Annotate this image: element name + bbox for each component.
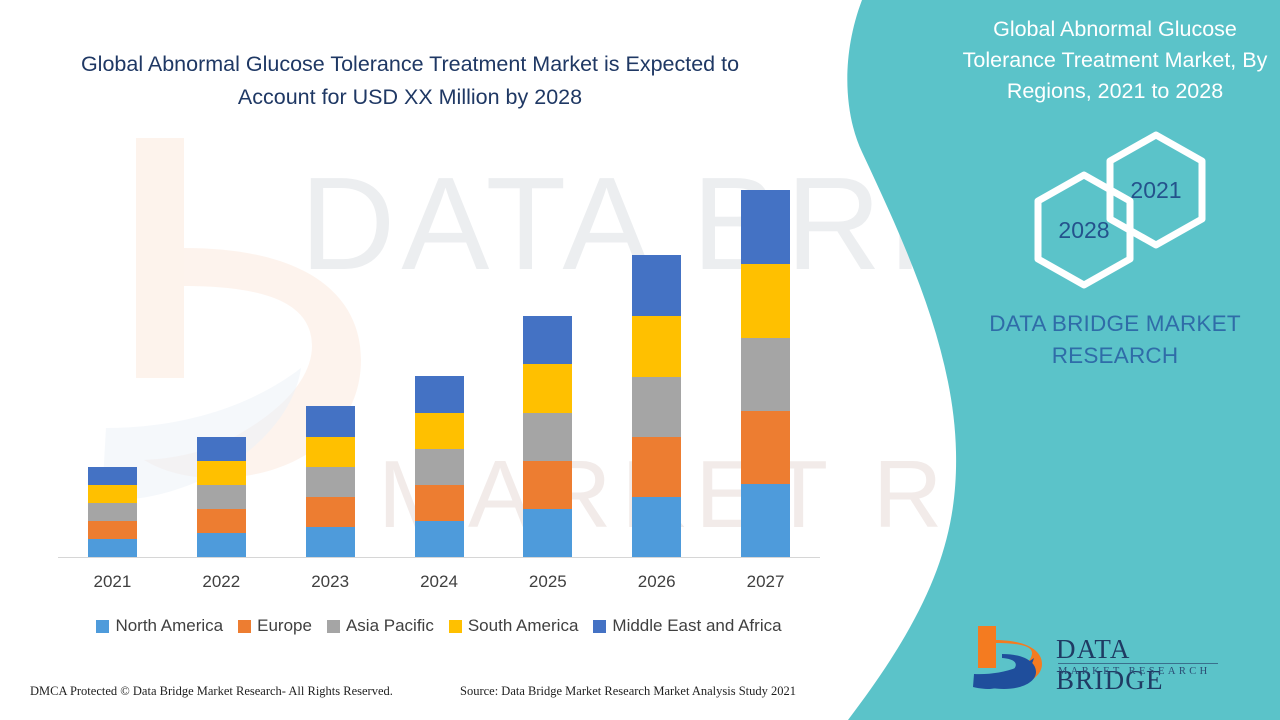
logo-wordmark: DATA BRIDGE (1056, 634, 1222, 696)
bar-2027 (741, 190, 790, 557)
legend-swatch-icon (327, 620, 340, 633)
x-axis-label-2022: 2022 (176, 572, 266, 592)
x-axis-labels: 2021202220232024202520262027 (58, 572, 820, 600)
x-axis-label-2021: 2021 (67, 572, 157, 592)
hexagon-start-year-label: 2021 (1102, 130, 1210, 250)
logo-subtitle: MARKET RESEARCH (1058, 666, 1211, 677)
legend-label: Middle East and Africa (612, 616, 781, 636)
data-bridge-logo-icon (972, 624, 1050, 690)
x-axis-label-2027: 2027 (721, 572, 811, 592)
bar-segment (88, 539, 137, 557)
bar-segment (415, 413, 464, 449)
side-panel-content: Global Abnormal Glucose Tolerance Treatm… (950, 0, 1280, 720)
bar-2026 (632, 255, 681, 557)
bar-segment (415, 376, 464, 413)
bar-segment (523, 364, 572, 413)
bar-segment (632, 255, 681, 316)
bar-segment (523, 316, 572, 364)
infographic-canvas: DATA BRIDGE MARKET RESEARCH Global Abnor… (0, 0, 1280, 720)
x-axis-label-2024: 2024 (394, 572, 484, 592)
hexagon-start-year: 2021 (1102, 130, 1210, 250)
legend-swatch-icon (238, 620, 251, 633)
legend-label: Europe (257, 616, 312, 636)
bar-segment (741, 338, 790, 411)
bar-2023 (306, 406, 355, 557)
legend-swatch-icon (449, 620, 462, 633)
bar-2022 (197, 437, 246, 557)
legend-swatch-icon (593, 620, 606, 633)
logo-divider (1058, 663, 1218, 664)
hexagon-group: 2028 2021 (950, 130, 1280, 275)
legend-item-north-america[interactable]: North America (96, 616, 223, 636)
bar-segment (741, 411, 790, 484)
bar-segment (197, 533, 246, 557)
bar-segment (741, 484, 790, 557)
footer-bar: DMCA Protected © Data Bridge Market Rese… (0, 684, 845, 708)
bar-segment (741, 264, 790, 338)
bar-segment (415, 485, 464, 521)
legend-item-south-america[interactable]: South America (449, 616, 579, 636)
side-panel-brand-name: DATA BRIDGE MARKET RESEARCH (950, 308, 1280, 372)
bar-segment (88, 467, 137, 485)
legend-label: Asia Pacific (346, 616, 434, 636)
legend-item-asia-pacific[interactable]: Asia Pacific (327, 616, 434, 636)
bar-segment (306, 497, 355, 527)
bar-segment (306, 467, 355, 497)
bar-segment (415, 521, 464, 557)
bar-segment (197, 461, 246, 485)
bar-segment (632, 377, 681, 437)
bar-segment (306, 527, 355, 557)
x-axis-line (58, 557, 820, 558)
bar-segment (88, 485, 137, 503)
bar-segment (523, 461, 572, 509)
bar-segment (197, 509, 246, 533)
bar-segment (306, 437, 355, 467)
bar-segment (632, 497, 681, 557)
x-axis-label-2026: 2026 (612, 572, 702, 592)
bar-segment (632, 316, 681, 377)
legend-item-middle-east-and-africa[interactable]: Middle East and Africa (593, 616, 781, 636)
side-panel-title: Global Abnormal Glucose Tolerance Treatm… (950, 14, 1280, 107)
x-axis-label-2025: 2025 (503, 572, 593, 592)
legend-label: North America (115, 616, 223, 636)
footer-copyright-text: DMCA Protected © Data Bridge Market Rese… (30, 684, 393, 699)
bar-2024 (415, 376, 464, 557)
bar-segment (197, 437, 246, 461)
bar-segment (88, 503, 137, 521)
bar-segment (523, 509, 572, 557)
page-title: Global Abnormal Glucose Tolerance Treatm… (60, 48, 760, 114)
x-axis-label-2023: 2023 (285, 572, 375, 592)
bar-segment (88, 521, 137, 539)
bar-2021 (88, 467, 137, 557)
chart-legend: North AmericaEuropeAsia PacificSouth Ame… (58, 616, 820, 636)
brand-logo: DATA BRIDGE MARKET RESEARCH (972, 620, 1222, 694)
bar-segment (632, 437, 681, 497)
bar-segment (306, 406, 355, 437)
bar-segment (523, 413, 572, 461)
bar-2025 (523, 316, 572, 557)
bar-segment (741, 190, 790, 264)
bar-segment (415, 449, 464, 485)
legend-swatch-icon (96, 620, 109, 633)
footer-source-text: Source: Data Bridge Market Research Mark… (460, 684, 796, 699)
bar-segment (197, 485, 246, 509)
legend-item-europe[interactable]: Europe (238, 616, 312, 636)
bar-chart-plot-area (58, 150, 820, 558)
legend-label: South America (468, 616, 579, 636)
